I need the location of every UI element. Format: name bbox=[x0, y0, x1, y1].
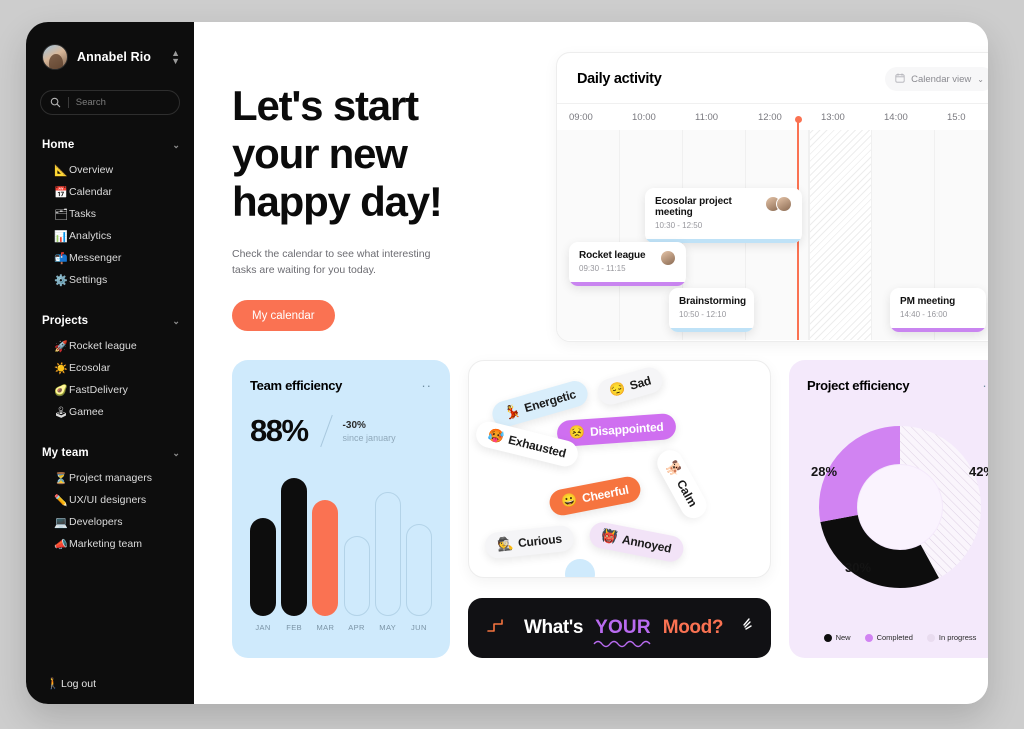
project-efficiency-title: Project efficiency bbox=[807, 378, 909, 393]
bar-label: JUN bbox=[411, 623, 427, 632]
sidebar-item-label: Project managers bbox=[69, 472, 152, 484]
sidebar-item-label: Tasks bbox=[69, 208, 96, 220]
daily-activity-title: Daily activity bbox=[577, 71, 661, 87]
mood-banner[interactable]: What's YOUR Mood? bbox=[468, 598, 771, 658]
sidebar-item-marketing-team[interactable]: 📣 Marketing team bbox=[26, 533, 194, 555]
bar-column: JAN bbox=[250, 518, 276, 632]
sidebar-item-label: Analytics bbox=[69, 230, 111, 242]
nav-section-my-team: My team ⌄ ⏳ Project managers ✏️ UX/UI de… bbox=[26, 443, 194, 555]
bar bbox=[312, 500, 338, 616]
sidebar-item-label: Gamee bbox=[69, 406, 104, 418]
sidebar-item-overview[interactable]: 📐 Overview bbox=[26, 159, 194, 181]
mood-chips-panel: 😔 Sad 💃 Energetic 😣 Disappointed 🥵 Exhau… bbox=[468, 360, 771, 578]
sidebar-item-label: Calendar bbox=[69, 186, 112, 198]
calendar-icon: 📅 bbox=[54, 186, 69, 199]
sidebar-item-project-managers[interactable]: ⏳ Project managers bbox=[26, 467, 194, 489]
cheerful-icon: 😀 bbox=[560, 492, 579, 511]
sidebar-item-label: UX/UI designers bbox=[69, 494, 146, 506]
logout-button[interactable]: 🚶 Log out bbox=[26, 677, 96, 690]
hourglass-icon: ⏳ bbox=[54, 472, 69, 485]
project-efficiency-legend: New Completed In progress bbox=[789, 633, 988, 642]
time-tick: 15:0 bbox=[947, 112, 988, 123]
team-efficiency-title: Team efficiency bbox=[250, 378, 342, 393]
page-title-line3: happy day! bbox=[232, 178, 442, 225]
chevron-down-icon[interactable]: ⌄ bbox=[977, 75, 984, 84]
event-title: Ecosolar project meeting bbox=[655, 196, 765, 218]
sidebar-item-tasks[interactable]: 🗂 Tasks bbox=[26, 203, 194, 225]
team-efficiency-percent: 88% bbox=[250, 413, 308, 449]
mood-chip-label: Calm bbox=[674, 477, 700, 509]
logout-label: Log out bbox=[61, 678, 96, 690]
timeline-column bbox=[557, 130, 620, 340]
bar-column: FEB bbox=[281, 478, 307, 632]
decorative-dot bbox=[565, 559, 595, 578]
event-accent-bar bbox=[669, 328, 754, 332]
search-divider bbox=[68, 97, 69, 108]
squiggle-left-icon bbox=[486, 618, 512, 639]
sidebar-item-calendar[interactable]: 📅 Calendar bbox=[26, 181, 194, 203]
search-input[interactable] bbox=[76, 97, 170, 108]
bar bbox=[281, 478, 307, 616]
laptop-icon: 💻 bbox=[54, 516, 69, 529]
exhausted-icon: 🥵 bbox=[486, 427, 505, 446]
calendar-view-label: Calendar view bbox=[911, 74, 971, 85]
dancer-icon: 💃 bbox=[502, 402, 522, 422]
legend-label: Completed bbox=[877, 633, 913, 642]
sidebar-item-label: Overview bbox=[69, 164, 113, 176]
legend-item-in-progress: In progress bbox=[927, 633, 977, 642]
logout-icon: 🚶 bbox=[46, 677, 61, 690]
sidebar-item-settings[interactable]: ⚙️ Settings bbox=[26, 269, 194, 291]
legend-swatch bbox=[865, 634, 873, 642]
time-tick: 14:00 bbox=[884, 112, 947, 123]
time-tick: 09:00 bbox=[569, 112, 632, 123]
search-icon bbox=[50, 97, 61, 108]
daily-activity-card: Daily activity Calendar view ⌄ 09:00 10:… bbox=[556, 52, 988, 342]
bar bbox=[375, 492, 401, 616]
banner-word-your: YOUR bbox=[595, 617, 651, 638]
mood-chip-sad[interactable]: 😔 Sad bbox=[595, 364, 666, 407]
more-options-icon[interactable]: ·· bbox=[982, 378, 988, 393]
main-content: Let's start your new happy day! Check th… bbox=[194, 22, 988, 704]
chevron-up-down-icon[interactable]: ▲▼ bbox=[171, 49, 180, 65]
time-tick: 12:00 bbox=[758, 112, 821, 123]
event-title: Brainstorming bbox=[679, 296, 746, 307]
mood-chip-label: Curious bbox=[517, 532, 562, 551]
sidebar-item-label: Messenger bbox=[69, 252, 121, 264]
joystick-icon: 🕹 bbox=[54, 406, 69, 419]
overview-icon: 📐 bbox=[54, 164, 69, 177]
mood-card: 😔 Sad 💃 Energetic 😣 Disappointed 🥵 Exhau… bbox=[468, 360, 771, 658]
disappointed-icon: 😣 bbox=[569, 424, 586, 441]
team-efficiency-bar-chart: JAN FEB MAR APR bbox=[250, 472, 432, 632]
banner-word-whats: What's bbox=[524, 617, 583, 639]
timeline-body: Ecosolar project meeting 10:30 - 12:50 R… bbox=[557, 130, 988, 340]
mood-chip-curious[interactable]: 🕵️ Curious bbox=[484, 524, 575, 559]
bar bbox=[250, 518, 276, 616]
avocado-icon: 🥑 bbox=[54, 384, 69, 397]
event-time: 10:30 - 12:50 bbox=[655, 221, 765, 230]
mood-chip-label: Energetic bbox=[523, 387, 578, 415]
nav-list-home: 📐 Overview 📅 Calendar 🗂 Tasks 📊 Analytic… bbox=[26, 159, 194, 291]
event-accent-bar bbox=[569, 282, 686, 286]
nav-list-projects: 🚀 Rocket league ☀️ Ecosolar 🥑 FastDelive… bbox=[26, 335, 194, 423]
bar-column: MAR bbox=[312, 500, 338, 632]
mood-chip-calm[interactable]: 🐕 Calm bbox=[653, 446, 711, 523]
legend-item-completed: Completed bbox=[865, 633, 913, 642]
sidebar-item-messenger[interactable]: 📬 Messenger bbox=[26, 247, 194, 269]
search-box[interactable] bbox=[40, 90, 180, 115]
event-title: Rocket league bbox=[579, 250, 646, 261]
mood-chip-disappointed[interactable]: 😣 Disappointed bbox=[556, 413, 676, 447]
dog-icon: 🐕 bbox=[663, 458, 685, 480]
chevron-down-icon[interactable]: ⌄ bbox=[172, 448, 180, 459]
mood-chip-cheerful[interactable]: 😀 Cheerful bbox=[547, 474, 642, 517]
sidebar-item-label: Settings bbox=[69, 274, 107, 286]
sidebar: Annabel Rio ▲▼ Home ⌄ 📐 Overview 📅 bbox=[26, 22, 194, 704]
mood-chip-label: Annoyed bbox=[621, 532, 673, 555]
time-tick: 11:00 bbox=[695, 112, 758, 123]
megaphone-icon: 📣 bbox=[54, 538, 69, 551]
page-title-line2: your new bbox=[232, 130, 407, 177]
nav-header-projects[interactable]: Projects ⌄ bbox=[26, 311, 194, 331]
legend-swatch bbox=[927, 634, 935, 642]
donut-label-in-progress: 42% bbox=[969, 464, 988, 479]
bar bbox=[344, 536, 370, 616]
timeline-event[interactable]: Ecosolar project meeting 10:30 - 12:50 bbox=[645, 188, 802, 243]
user-name: Annabel Rio bbox=[77, 50, 151, 64]
tasks-icon: 🗂 bbox=[54, 208, 69, 221]
wavy-underline-icon bbox=[593, 639, 661, 649]
banner-word-mood: Mood? bbox=[663, 617, 723, 639]
nav-header-label: My team bbox=[42, 447, 89, 459]
angry-mask-icon: 👹 bbox=[600, 527, 619, 546]
nav-header-home[interactable]: Home ⌄ bbox=[26, 135, 194, 155]
nav-header-label: Projects bbox=[42, 315, 88, 327]
legend-swatch bbox=[824, 634, 832, 642]
mood-chip-label: Disappointed bbox=[590, 420, 664, 439]
daily-activity-header: Daily activity Calendar view ⌄ bbox=[557, 53, 988, 104]
team-efficiency-card: Team efficiency ·· 88% -30% since januar… bbox=[232, 360, 450, 658]
donut-hole bbox=[858, 465, 942, 549]
bar-label: MAY bbox=[379, 623, 396, 632]
event-time: 09:30 - 11:15 bbox=[579, 264, 646, 273]
sidebar-item-analytics[interactable]: 📊 Analytics bbox=[26, 225, 194, 247]
sun-icon: ☀️ bbox=[54, 362, 69, 375]
timeline-event[interactable]: PM meeting 14:40 - 16:00 bbox=[890, 288, 986, 332]
calendar-view-dropdown[interactable]: Calendar view ⌄ bbox=[885, 67, 988, 91]
event-attendees bbox=[660, 250, 676, 266]
bar-column: MAY bbox=[375, 492, 401, 632]
nav-section-projects: Projects ⌄ 🚀 Rocket league ☀️ Ecosolar 🥑… bbox=[26, 311, 194, 423]
sidebar-item-label: Ecosolar bbox=[69, 362, 110, 374]
timeline-unavailable-block bbox=[809, 130, 872, 340]
app-window: Annabel Rio ▲▼ Home ⌄ 📐 Overview 📅 bbox=[26, 22, 988, 704]
timeline-event[interactable]: Rocket league 09:30 - 11:15 bbox=[569, 242, 686, 286]
my-calendar-button[interactable]: My calendar bbox=[232, 300, 335, 331]
hero-section: Let's start your new happy day! Check th… bbox=[232, 40, 532, 342]
sidebar-item-developers[interactable]: 💻 Developers bbox=[26, 511, 194, 533]
sidebar-item-ecosolar[interactable]: ☀️ Ecosolar bbox=[26, 357, 194, 379]
divider bbox=[320, 415, 333, 447]
nav-header-my-team[interactable]: My team ⌄ bbox=[26, 443, 194, 463]
legend-label: In progress bbox=[939, 633, 977, 642]
event-attendees bbox=[765, 196, 792, 212]
mood-chip-annoyed[interactable]: 👹 Annoyed bbox=[587, 520, 685, 564]
chevron-down-icon[interactable]: ⌄ bbox=[172, 140, 180, 151]
sidebar-item-label: Rocket league bbox=[69, 340, 137, 352]
more-options-icon[interactable]: ·· bbox=[421, 378, 432, 393]
project-efficiency-card: Project efficiency ·· bbox=[789, 360, 988, 658]
time-tick: 13:00 bbox=[821, 112, 884, 123]
bar-label: APR bbox=[348, 623, 365, 632]
avatar bbox=[42, 44, 68, 70]
sidebar-item-label: Developers bbox=[69, 516, 123, 528]
bar bbox=[406, 524, 432, 616]
team-efficiency-delta: -30% bbox=[343, 420, 396, 431]
legend-item-new: New bbox=[824, 633, 851, 642]
gear-icon: ⚙️ bbox=[54, 274, 69, 287]
event-time: 10:50 - 12:10 bbox=[679, 310, 746, 319]
event-accent-bar bbox=[890, 328, 986, 332]
nav-list-my-team: ⏳ Project managers ✏️ UX/UI designers 💻 … bbox=[26, 467, 194, 555]
nav-section-home: Home ⌄ 📐 Overview 📅 Calendar 🗂 Tasks 📊 bbox=[26, 135, 194, 291]
sidebar-item-fastdelivery[interactable]: 🥑 FastDelivery bbox=[26, 379, 194, 401]
pencil-icon: ✏️ bbox=[54, 494, 69, 507]
timeline-event[interactable]: Brainstorming 10:50 - 12:10 bbox=[669, 288, 754, 332]
team-efficiency-header: Team efficiency ·· bbox=[250, 378, 432, 393]
page-title-line1: Let's start bbox=[232, 82, 418, 129]
sidebar-item-gamee[interactable]: 🕹 Gamee bbox=[26, 401, 194, 423]
event-title: PM meeting bbox=[900, 296, 955, 307]
sparkle-icon bbox=[735, 617, 753, 640]
sidebar-item-label: FastDelivery bbox=[69, 384, 128, 396]
event-time: 14:40 - 16:00 bbox=[900, 310, 955, 319]
hero-subtitle: Check the calendar to see what interesti… bbox=[232, 246, 447, 278]
project-efficiency-header: Project efficiency ·· bbox=[807, 378, 988, 393]
bar-label: JAN bbox=[255, 623, 270, 632]
messenger-icon: 📬 bbox=[54, 252, 69, 265]
calendar-icon bbox=[895, 73, 905, 86]
chevron-down-icon[interactable]: ⌄ bbox=[172, 316, 180, 327]
team-efficiency-delta-note: since january bbox=[343, 433, 396, 443]
rocket-icon: 🚀 bbox=[54, 340, 69, 353]
donut-label-new: 30% bbox=[845, 560, 871, 575]
top-row: Let's start your new happy day! Check th… bbox=[232, 40, 988, 342]
sad-icon: 😔 bbox=[608, 380, 628, 400]
bar-column: JUN bbox=[406, 524, 432, 632]
nav-header-label: Home bbox=[42, 139, 74, 151]
timeline-time-axis: 09:00 10:00 11:00 12:00 13:00 14:00 15:0 bbox=[557, 104, 988, 130]
mood-chip-label: Sad bbox=[628, 373, 652, 392]
bottom-row: Team efficiency ·· 88% -30% since januar… bbox=[232, 360, 988, 658]
mood-chip-label: Cheerful bbox=[581, 483, 630, 506]
analytics-icon: 📊 bbox=[54, 230, 69, 243]
team-efficiency-stat: 88% -30% since january bbox=[250, 413, 432, 449]
bar-column: APR bbox=[344, 536, 370, 632]
project-efficiency-donut-chart: 28% 42% 30% bbox=[789, 412, 988, 602]
sidebar-item-label: Marketing team bbox=[69, 538, 142, 550]
time-tick: 10:00 bbox=[632, 112, 695, 123]
bar-label: MAR bbox=[316, 623, 334, 632]
legend-label: New bbox=[836, 633, 851, 642]
user-profile[interactable]: Annabel Rio ▲▼ bbox=[26, 40, 194, 74]
sidebar-item-rocket-league[interactable]: 🚀 Rocket league bbox=[26, 335, 194, 357]
sidebar-item-ux-ui-designers[interactable]: ✏️ UX/UI designers bbox=[26, 489, 194, 511]
donut-label-completed: 28% bbox=[811, 464, 837, 479]
page-title: Let's start your new happy day! bbox=[232, 82, 532, 226]
bar-label: FEB bbox=[286, 623, 302, 632]
detective-icon: 🕵️ bbox=[496, 536, 514, 554]
